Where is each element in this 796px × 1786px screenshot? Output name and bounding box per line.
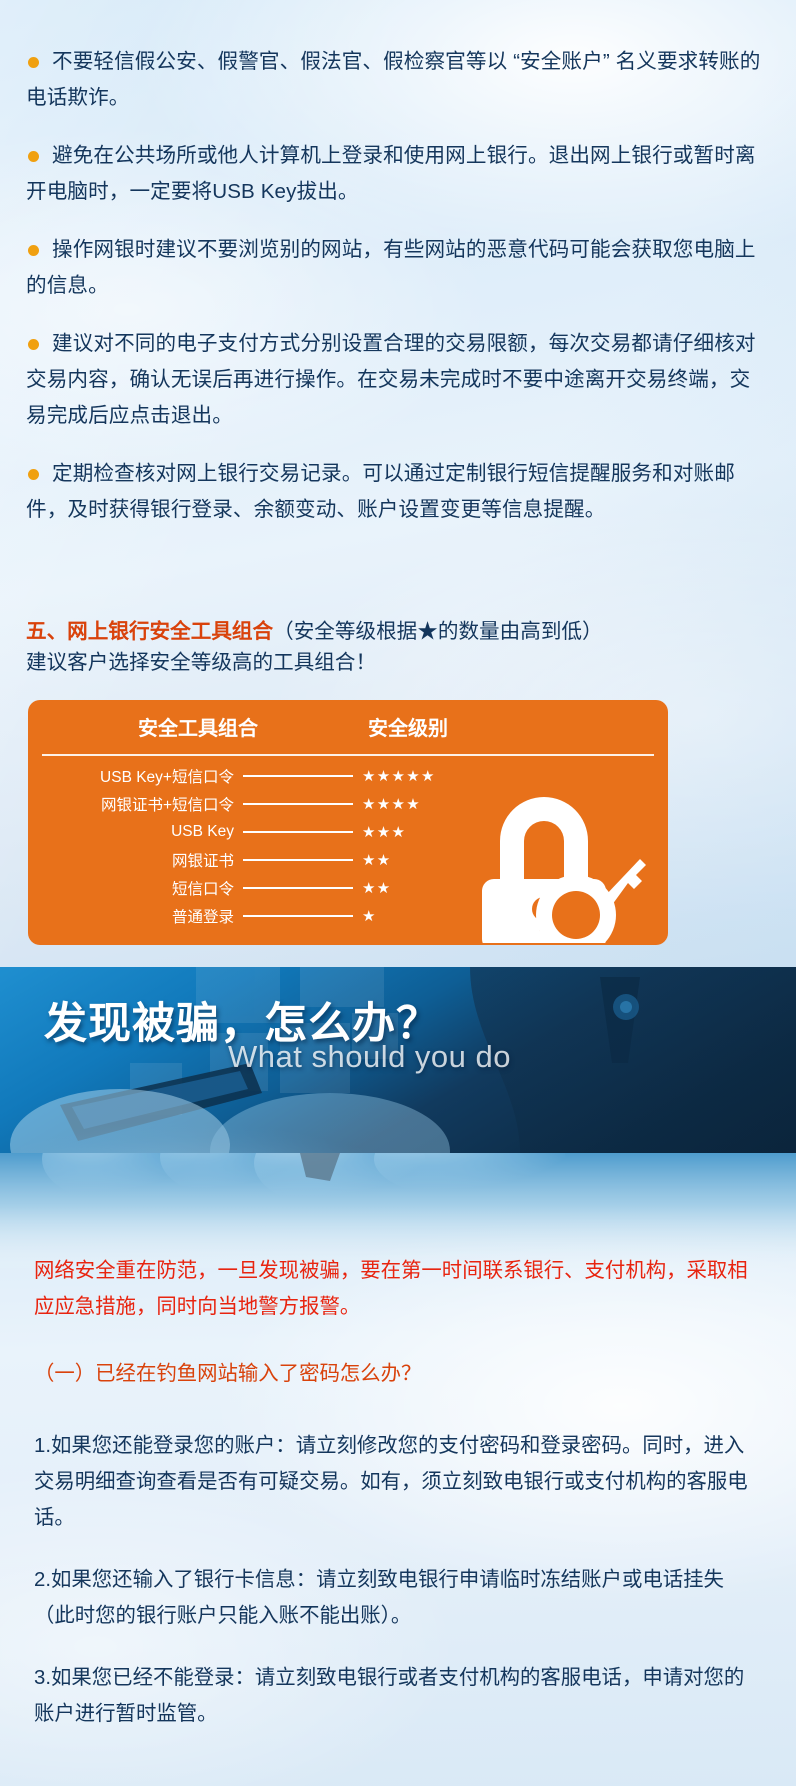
- tool-name: USB Key: [58, 823, 234, 841]
- list-item: 避免在公共场所或他人计算机上登录和使用网上银行。退出网上银行或暂时离开电脑时，一…: [26, 138, 770, 210]
- tool-name: USB Key+短信口令: [58, 765, 234, 787]
- tool-name: 普通登录: [58, 905, 234, 927]
- bullet-dot-icon: [28, 151, 39, 162]
- bullet-dot-icon: [28, 339, 39, 350]
- tip-text: 操作网银时建议不要浏览别的网站，有些网站的恶意代码可能会获取您电脑上的信息。: [26, 238, 756, 297]
- list-item: 定期检查核对网上银行交易记录。可以通过定制银行短信提醒服务和对账邮件，及时获得银…: [26, 456, 770, 528]
- column-header-level: 安全级别: [328, 712, 488, 741]
- leader-line: [243, 859, 353, 861]
- hands-fade-graphic: [0, 1153, 796, 1268]
- bullet-dot-icon: [28, 245, 39, 256]
- tips-bullet-list: 不要轻信假公安、假警官、假法官、假检察官等以 “安全账户” 名义要求转账的电话欺…: [26, 44, 770, 550]
- top-tips-section: 不要轻信假公安、假警官、假法官、假检察官等以 “安全账户” 名义要求转账的电话欺…: [0, 0, 796, 967]
- tool-name: 网银证书+短信口令: [58, 793, 234, 815]
- subsection-heading: （一）已经在钓鱼网站输入了密码怎么办？: [34, 1358, 421, 1390]
- leader-line: [243, 831, 353, 833]
- leader-line: [243, 887, 353, 889]
- section-five-subtitle: 建议客户选择安全等级高的工具组合！: [26, 647, 770, 679]
- list-item: 1.如果您还能登录您的账户：请立刻修改您的支付密码和登录密码。同时，进入交易明细…: [34, 1428, 764, 1536]
- column-header-tool: 安全工具组合: [83, 712, 313, 741]
- list-item: 不要轻信假公安、假警官、假法官、假检察官等以 “安全账户” 名义要求转账的电话欺…: [26, 44, 770, 116]
- section-five-title: 五、网上银行安全工具组合（安全等级根据★的数量由高到低）: [26, 617, 770, 647]
- list-item: 建议对不同的电子支付方式分别设置合理的交易限额，每次交易都请仔细核对交易内容，确…: [26, 326, 770, 434]
- section-five-title-highlight: 五、网上银行安全工具组合: [26, 620, 273, 643]
- star-rating: ★★★★★: [362, 767, 436, 785]
- header-divider: [42, 754, 654, 756]
- tool-name: 短信口令: [58, 877, 234, 899]
- star-rating: ★: [362, 907, 377, 925]
- table-row: USB Key+短信口令 ★★★★★: [28, 762, 498, 790]
- star-rating: ★★: [362, 879, 392, 897]
- padlock-key-icon: [464, 775, 646, 943]
- bullet-dot-icon: [28, 57, 39, 68]
- section-five-title-note: （安全等级根据★的数量由高到低）: [273, 620, 603, 643]
- star-rating: ★★★★: [362, 795, 421, 813]
- hero-banner: 发现被骗，怎么办？ What should you do: [0, 967, 796, 1153]
- list-item: 2.如果您还输入了银行卡信息：请立刻致电银行申请临时冻结账户或电话挂失（此时您的…: [34, 1562, 764, 1634]
- hero-photo-continuation: [0, 1153, 796, 1268]
- tool-name: 网银证书: [58, 849, 234, 871]
- numbered-advice-list: 1.如果您还能登录您的账户：请立刻修改您的支付密码和登录密码。同时，进入交易明细…: [34, 1428, 764, 1758]
- leader-line: [243, 803, 353, 805]
- bullet-dot-icon: [28, 469, 39, 480]
- table-row: 普通登录 ★: [28, 902, 498, 930]
- table-row: 短信口令 ★★: [28, 874, 498, 902]
- table-row: 网银证书 ★★: [28, 846, 498, 874]
- list-item: 操作网银时建议不要浏览别的网站，有些网站的恶意代码可能会获取您电脑上的信息。: [26, 232, 770, 304]
- security-tools-rows: USB Key+短信口令 ★★★★★ 网银证书+短信口令 ★★★★ USB Ke…: [28, 762, 498, 930]
- tip-text: 不要轻信假公安、假警官、假法官、假检察官等以 “安全账户” 名义要求转账的电话欺…: [26, 50, 760, 109]
- table-row: USB Key ★★★: [28, 818, 498, 846]
- tip-text: 定期检查核对网上银行交易记录。可以通过定制银行短信提醒服务和对账邮件，及时获得银…: [26, 462, 735, 521]
- table-header-row: 安全工具组合 安全级别: [28, 700, 668, 752]
- tip-text: 避免在公共场所或他人计算机上登录和使用网上银行。退出网上银行或暂时离开电脑时，一…: [26, 144, 756, 203]
- section-five-heading-block: 五、网上银行安全工具组合（安全等级根据★的数量由高到低） 建议客户选择安全等级高…: [26, 617, 770, 679]
- table-row: 网银证书+短信口令 ★★★★: [28, 790, 498, 818]
- leader-line: [243, 915, 353, 917]
- star-rating: ★★★: [362, 823, 406, 841]
- star-rating: ★★: [362, 851, 392, 869]
- emergency-lead-text: 网络安全重在防范，一旦发现被骗，要在第一时间联系银行、支付机构，采取相应应急措施…: [34, 1253, 760, 1325]
- list-item: 3.如果您已经不能登录：请立刻致电银行或者支付机构的客服电话，申请对您的账户进行…: [34, 1660, 764, 1732]
- tip-text: 建议对不同的电子支付方式分别设置合理的交易限额，每次交易都请仔细核对交易内容，确…: [26, 332, 756, 427]
- leader-line: [243, 775, 353, 777]
- security-tools-panel: 安全工具组合 安全级别 USB Key+短信口令 ★★★★★ 网银证书+短信口令…: [28, 700, 668, 945]
- page-subtitle: What should you do: [228, 1039, 511, 1075]
